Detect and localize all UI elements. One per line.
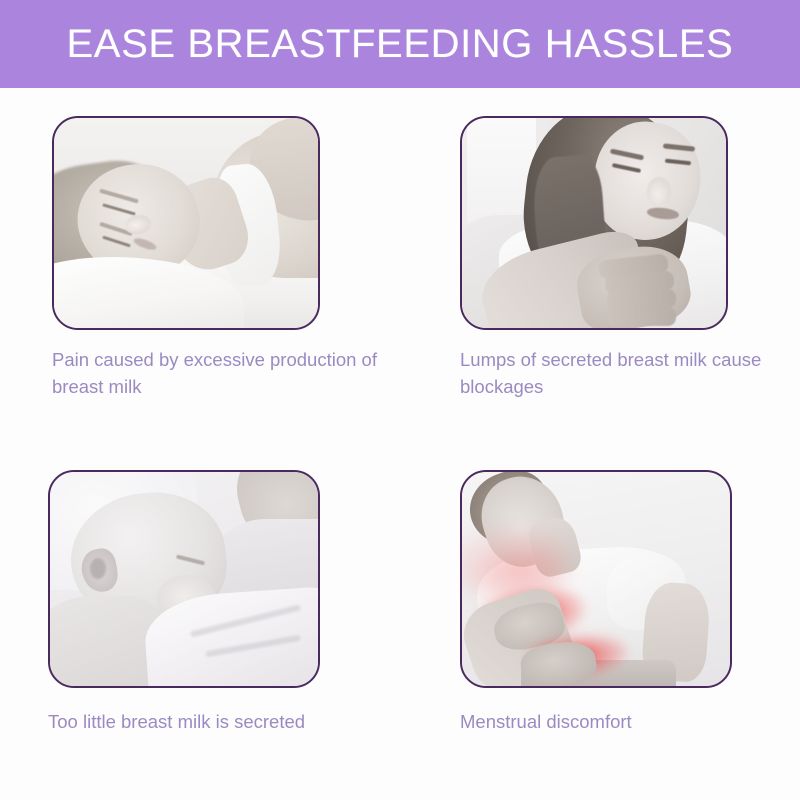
photo-menstrual-discomfort (462, 472, 730, 686)
feature-cell-milk-lumps-blockage: Lumps of secreted breast milk cause bloc… (460, 116, 800, 400)
feature-grid: Pain caused by excessive production of b… (0, 88, 800, 800)
feature-cell-excessive-milk-pain: Pain caused by excessive production of b… (52, 116, 392, 400)
feature-caption: Menstrual discomfort (460, 708, 790, 735)
photo-sleeping-woman (54, 118, 318, 328)
feature-caption: Too little breast milk is secreted (48, 708, 378, 735)
feature-caption: Pain caused by excessive production of b… (52, 346, 382, 400)
feature-cell-menstrual-discomfort: Menstrual discomfort (460, 470, 800, 735)
feature-image-frame (48, 470, 320, 688)
photo-baby-nursing (50, 472, 318, 686)
photo-woman-chest-pain (462, 118, 726, 328)
feature-cell-low-milk-supply: Too little breast milk is secreted (48, 470, 388, 735)
feature-image-frame (52, 116, 320, 330)
page-title: EASE BREASTFEEDING HASSLES (67, 22, 734, 67)
feature-image-frame (460, 116, 728, 330)
feature-caption: Lumps of secreted breast milk cause bloc… (460, 346, 790, 400)
promo-infographic: EASE BREASTFEEDING HASSLES (0, 0, 800, 800)
header-banner: EASE BREASTFEEDING HASSLES (0, 0, 800, 88)
feature-image-frame (460, 470, 732, 688)
